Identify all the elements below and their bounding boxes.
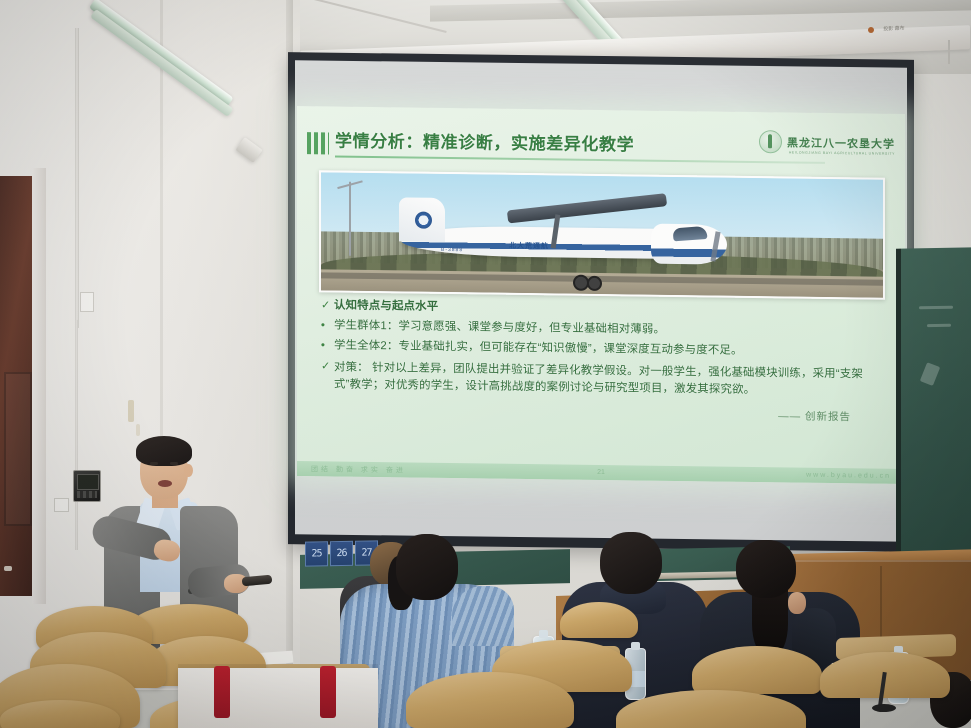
bullet-marker-dot-icon: •: [321, 318, 334, 333]
door-frame: [32, 168, 46, 604]
classroom-door[interactable]: [0, 176, 36, 596]
wall-mark: [128, 400, 134, 422]
aircraft-registration: B-3888: [441, 247, 463, 253]
lecture-hall-photo: 投影 幕布 学情分析：精准诊断，实施差异化教学 黑龙江八一农垦大学 HEILON…: [0, 0, 971, 728]
bullet-marker-check-icon: ✓: [321, 298, 334, 313]
wall-pipe: [75, 28, 79, 328]
attendee-striped-jacket-head: [396, 534, 458, 600]
slide-header: 学情分析：精准诊断，实施差异化教学 黑龙江八一农垦大学 HEILONGJIANG…: [297, 124, 905, 174]
aircraft-cockpit-window: [672, 225, 707, 240]
seat-plate-26: 26: [330, 541, 353, 566]
footer-url: www.byau.edu.cn: [806, 472, 891, 480]
slide-body: ✓ 认知特点与起点水平 • 学生群体1：学习意愿强、课堂参与度好，但专业基础相对…: [321, 298, 887, 405]
university-name-english: HEILONGJIANG BAYI AGRICULTURAL UNIVERSIT…: [789, 150, 895, 155]
seat-number: 26: [336, 548, 346, 559]
presenter-ear: [184, 464, 193, 477]
slide-paragraph: ✓ 对策： 针对以上差异，团队提出并验证了差异化教学假设。对一般学生，强化基础模…: [321, 359, 887, 400]
university-crest-icon: [759, 130, 782, 153]
university-name: 黑龙江八一农垦大学: [787, 134, 895, 151]
attendee-ponytail-hand: [788, 592, 806, 614]
bullet-text: 学生群体1：学习意愿强、课堂参与度好，但专业基础相对薄弱。: [334, 319, 887, 341]
aircraft-tail-fin: [399, 197, 445, 242]
bullet-text: 认知特点与起点水平: [334, 299, 887, 321]
tote-handle-right: [320, 666, 336, 718]
presenter-hair: [136, 436, 192, 466]
bullet-text: 学生全体2：专业基础扎实，但可能存在“知识傲慢”，课堂深度互动参与度不足。: [334, 339, 887, 361]
paragraph-marker-check-icon: ✓: [321, 359, 334, 374]
tote-bag[interactable]: [178, 668, 378, 728]
slide-attribution: —— 创新报告: [778, 408, 851, 424]
paragraph-text: 对策： 针对以上差异，团队提出并验证了差异化教学假设。对一般学生，强化基础模块训…: [334, 360, 887, 401]
tote-handle-left: [214, 666, 230, 718]
aircraft-tail-emblem-icon: [415, 211, 432, 228]
title-underline: [335, 156, 825, 164]
microphone-base: [872, 704, 896, 712]
presenter-eye-left: [150, 462, 158, 465]
slide-title: 学情分析：精准诊断，实施差异化教学: [335, 127, 634, 156]
door-handle-icon[interactable]: [4, 566, 12, 571]
slide-bullet: • 学生群体1：学习意愿强、课堂参与度好，但专业基础相对薄弱。: [321, 318, 887, 340]
seat-plate-25: 25: [305, 541, 328, 566]
photo-lamp-post: [349, 182, 351, 255]
bullet-marker-dot-icon: •: [321, 338, 334, 353]
footer-page-number: 21: [597, 469, 605, 476]
projected-slide: 学情分析：精准诊断，实施差异化教学 黑龙江八一农垦大学 HEILONGJIANG…: [297, 106, 905, 484]
slide-bullet: • 学生全体2：专业基础扎实，但可能存在“知识傲慢”，课堂深度互动参与度不足。: [321, 338, 887, 360]
wall-pipe-lower: [75, 320, 78, 550]
light-switch[interactable]: [80, 292, 94, 312]
chair-back[interactable]: [560, 602, 638, 638]
panel-buttons[interactable]: [77, 491, 97, 498]
seat-number-plates: 25 26 27: [305, 540, 378, 566]
chalkboard-right: [896, 247, 971, 578]
housing-label: 投影 幕布: [866, 25, 922, 41]
slide-bullet: ✓ 认知特点与起点水平: [321, 298, 887, 320]
attendee-striped-jacket-shoulder: [452, 586, 514, 646]
wall-outlet[interactable]: [54, 498, 69, 512]
attendee-ponytail-head: [736, 540, 796, 598]
door-panel: [4, 372, 32, 526]
title-accent-bars-icon: [307, 132, 329, 154]
presenter-eye-right: [170, 462, 178, 465]
aircraft-livery-text: 北大荒通航: [509, 241, 549, 252]
presenter-mouth: [158, 480, 172, 487]
screen-pull-cord[interactable]: [948, 40, 950, 64]
seat-number: 25: [311, 548, 321, 559]
attendee-dark-hoodie-head: [600, 532, 662, 594]
footer-motto: 团结 勤奋 求实 奋进: [311, 464, 406, 475]
slide-photo-aircraft: 北大荒通航 B-3888: [319, 170, 885, 299]
presentation-remote[interactable]: [242, 575, 273, 587]
wall-mark-2: [136, 424, 140, 436]
